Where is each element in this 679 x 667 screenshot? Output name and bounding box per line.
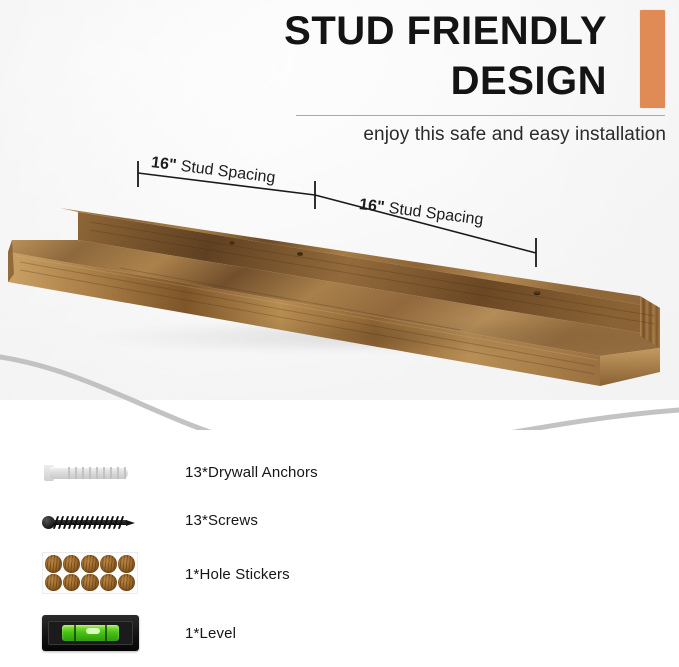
stud-spacing-value-left: 16" <box>150 154 177 174</box>
shelf-drop-shadow <box>10 324 670 350</box>
screw-icon <box>42 512 142 532</box>
orange-accent-bar <box>640 10 665 108</box>
accessories-panel: 13*Drywall Anchors 13*Scre <box>0 430 679 667</box>
headline-line-1: STUD FRIENDLY <box>87 8 607 54</box>
accessory-label-anchors: 13*Drywall Anchors <box>185 464 318 481</box>
level-tool-icon <box>42 615 139 651</box>
headline-block: STUD FRIENDLY DESIGN <box>87 8 607 104</box>
drywall-anchor-icon <box>42 462 134 484</box>
headline-line-2: DESIGN <box>87 58 607 104</box>
accessory-row-screws: 13*Screws <box>0 508 400 558</box>
accessory-row-level: 1*Level <box>0 615 400 665</box>
infographic-page: STUD FRIENDLY DESIGN enjoy this safe and… <box>0 0 679 667</box>
accessory-row-anchors: 13*Drywall Anchors <box>0 456 400 506</box>
accessory-label-stickers: 1*Hole Stickers <box>185 566 290 583</box>
header-divider-rule <box>296 115 665 116</box>
accessory-label-level: 1*Level <box>185 625 236 642</box>
hole-stickers-icon <box>42 552 138 594</box>
accessory-row-stickers: 1*Hole Stickers <box>0 552 400 602</box>
accessory-label-screws: 13*Screws <box>185 512 258 529</box>
